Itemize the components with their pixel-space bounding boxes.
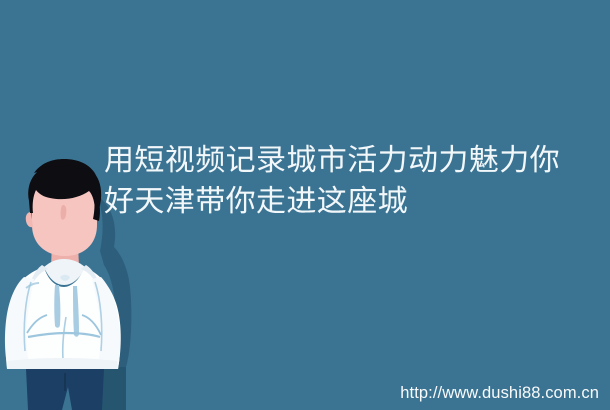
watermark-url: http://www.dushi88.com.cn	[400, 384, 599, 403]
ear-shape	[26, 212, 33, 227]
article-thumbnail-card: 用短视频记录城市活力动力魅力你好天津带你走进这座城 http://www.dus…	[0, 0, 610, 410]
hoodie-hem-shape	[7, 358, 118, 369]
drawstring-left-shape	[54, 285, 60, 328]
headline-text: 用短视频记录城市活力动力魅力你好天津带你走进这座城	[104, 140, 590, 222]
